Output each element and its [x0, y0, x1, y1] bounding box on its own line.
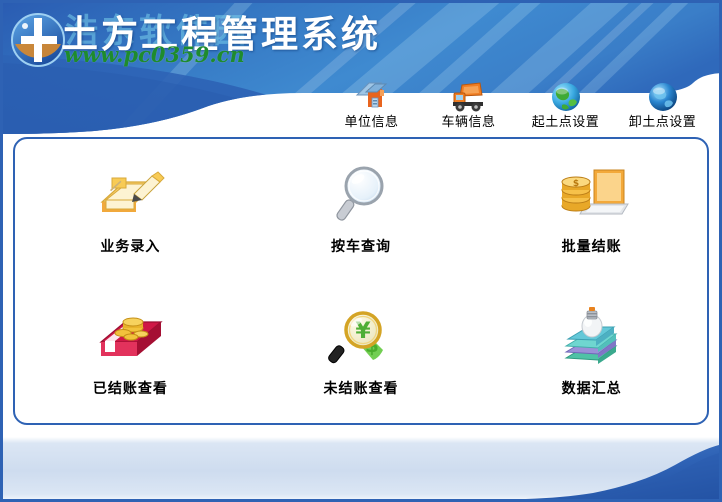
toolbar-item-label: 卸土点设置 [614, 115, 711, 131]
app-window: 浩东软件园 土方工程管理系统 www.pc0359.cn 单位信息 [0, 0, 722, 502]
grid-item-label: 按车查询 [331, 238, 391, 256]
app-logo [9, 10, 67, 68]
grid-item-business-entry[interactable]: 业务录入 [15, 139, 246, 281]
grid-item-label: 未结账查看 [323, 380, 398, 398]
footer-background [3, 431, 719, 499]
app-footer [3, 431, 719, 499]
green-globe-icon [517, 81, 614, 113]
svg-text:$: $ [573, 179, 579, 189]
grid-item-label: 业务录入 [100, 238, 160, 256]
grid-item-view-settled[interactable]: 已结账查看 [15, 281, 246, 423]
watermark-url: www.pc0359.cn [64, 43, 245, 67]
books-bulb-icon [556, 306, 628, 368]
dump-truck-icon [420, 81, 517, 113]
toolbar-item-label: 单位信息 [323, 115, 420, 131]
grid-item-view-unsettled[interactable]: $ ¥ 未结账查看 [246, 281, 477, 423]
grid-item-data-summary[interactable]: 数据汇总 [476, 281, 707, 423]
toolbar-item-label: 起土点设置 [517, 115, 614, 131]
notebook-pencil-icon [90, 164, 170, 226]
blue-globe-icon [614, 81, 711, 113]
red-book-coins-icon [91, 306, 169, 368]
top-toolbar: 单位信息 车辆信息 [323, 81, 713, 135]
grid-item-batch-settlement[interactable]: $ 批量结账 [476, 139, 707, 281]
grid-item-query-by-vehicle[interactable]: 按车查询 [246, 139, 477, 281]
grid-item-label: 数据汇总 [562, 380, 622, 398]
toolbar-item-dumping-point-settings[interactable]: 卸土点设置 [614, 81, 711, 131]
magnifier-icon [328, 164, 394, 226]
grid-item-label: 已结账查看 [93, 380, 168, 398]
toolbar-item-label: 车辆信息 [420, 115, 517, 131]
toolbar-item-unit-info[interactable]: 单位信息 [323, 81, 420, 131]
toolbar-item-vehicle-info[interactable]: 车辆信息 [420, 81, 517, 131]
function-grid: 业务录入 [15, 139, 707, 423]
magnifier-money-icon: $ ¥ [325, 306, 397, 368]
main-panel: 业务录入 [13, 137, 709, 425]
coins-laptop-icon: $ [554, 164, 630, 226]
house-icon [323, 81, 420, 113]
circle-cross-logo-icon [9, 10, 67, 68]
grid-item-label: 批量结账 [562, 238, 622, 256]
toolbar-item-loading-point-settings[interactable]: 起土点设置 [517, 81, 614, 131]
